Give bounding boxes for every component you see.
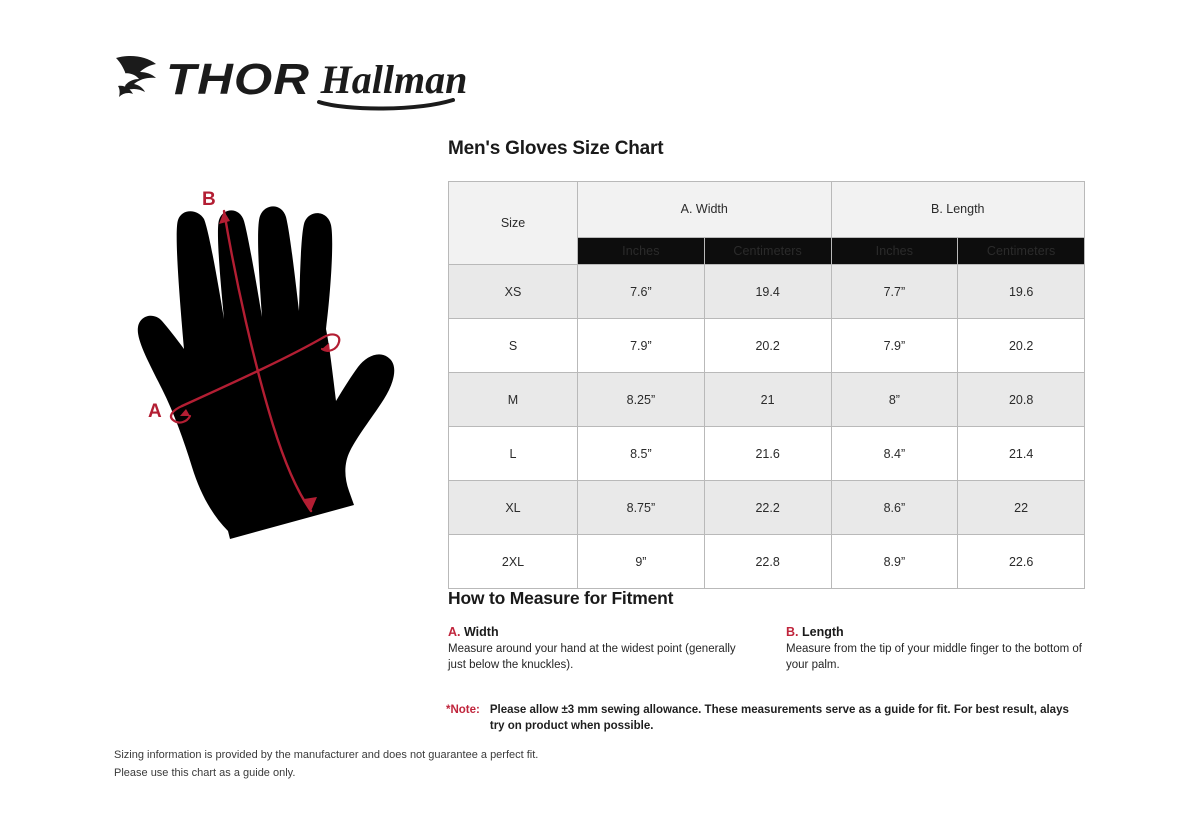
how-to-measure-section: How to Measure for Fitment A. Width Meas… [448,588,1088,674]
hand-measurement-diagram: B A [118,163,428,553]
cell-width-inches: 9” [578,535,705,589]
table-row: 2XL 9” 22.8 8.9” 22.6 [449,535,1085,589]
measure-item-width-key: A. [448,625,461,639]
cell-length-inches: 7.9” [831,319,958,373]
thor-wordmark: THOR [166,58,310,102]
cell-width-centimeters: 20.2 [704,319,831,373]
measure-item-length-description: Measure from the tip of your middle fing… [786,642,1086,674]
measure-item-length-key: B. [786,625,799,639]
page-title: Men's Gloves Size Chart [448,138,1088,160]
size-chart-table: Size A. Width B. Length Inches Centimete… [448,181,1085,589]
table-body: XS 7.6” 19.4 7.7” 19.6 S 7.9” 20.2 7.9” … [449,265,1085,589]
hallman-wordmark: Hallman [321,57,468,104]
cell-width-inches: 7.6” [578,265,705,319]
cell-width-centimeters: 21.6 [704,427,831,481]
brand-logo-bar: THOR Hallman [112,50,467,110]
label-b: B [202,189,216,210]
cell-length-centimeters: 19.6 [958,265,1085,319]
footer-disclaimer-line2: Please use this chart as a guide only. [114,765,538,783]
column-header-length-centimeters: Centimeters [958,237,1085,264]
cell-length-centimeters: 20.8 [958,373,1085,427]
cell-width-inches: 8.75” [578,481,705,535]
column-group-width: A. Width [578,182,832,238]
measure-item-width: A. Width Measure around your hand at the… [448,625,748,674]
column-header-length-inches: Inches [831,237,958,264]
cell-length-inches: 7.7” [831,265,958,319]
footer-disclaimer-line1: Sizing information is provided by the ma… [114,747,538,765]
table-row: XS 7.6” 19.4 7.7” 19.6 [449,265,1085,319]
cell-length-inches: 8.4” [831,427,958,481]
measure-item-width-heading: A. Width [448,625,748,639]
hand-silhouette-icon [138,206,394,539]
cell-size: XS [449,265,578,319]
cell-size: XL [449,481,578,535]
cell-length-centimeters: 21.4 [958,427,1085,481]
cell-width-inches: 8.5” [578,427,705,481]
table-row: S 7.9” 20.2 7.9” 20.2 [449,319,1085,373]
cell-size: 2XL [449,535,578,589]
table-group-header-row: Size A. Width B. Length [449,182,1085,238]
cell-width-centimeters: 19.4 [704,265,831,319]
thor-helmet-icon [112,52,164,108]
cell-size: L [449,427,578,481]
size-chart-panel: Men's Gloves Size Chart Size A. Width B.… [448,138,1088,589]
cell-width-inches: 7.9” [578,319,705,373]
cell-size: S [449,319,578,373]
column-header-size: Size [449,182,578,265]
label-a: A [148,401,162,422]
note-label: *Note: [446,702,480,735]
measure-item-width-name: Width [464,625,499,639]
cell-length-inches: 8.9” [831,535,958,589]
cell-length-inches: 8” [831,373,958,427]
note-block: *Note: Please allow ±3 mm sewing allowan… [446,702,1086,735]
cell-width-centimeters: 22.2 [704,481,831,535]
cell-length-centimeters: 22 [958,481,1085,535]
measure-item-length-name: Length [802,625,844,639]
hallman-swash-icon [317,98,457,112]
column-header-width-centimeters: Centimeters [704,237,831,264]
cell-length-centimeters: 20.2 [958,319,1085,373]
cell-width-centimeters: 21 [704,373,831,427]
table-row: L 8.5” 21.6 8.4” 21.4 [449,427,1085,481]
column-group-length: B. Length [831,182,1085,238]
cell-length-inches: 8.6” [831,481,958,535]
cell-width-inches: 8.25” [578,373,705,427]
hallman-logo: Hallman [321,60,468,100]
measure-item-length-heading: B. Length [786,625,1086,639]
table-row: M 8.25” 21 8” 20.8 [449,373,1085,427]
cell-length-centimeters: 22.6 [958,535,1085,589]
footer-disclaimer: Sizing information is provided by the ma… [114,747,538,782]
table-row: XL 8.75” 22.2 8.6” 22 [449,481,1085,535]
measure-item-width-description: Measure around your hand at the widest p… [448,642,748,674]
how-to-measure-title: How to Measure for Fitment [448,588,1088,609]
table-head: Size A. Width B. Length Inches Centimete… [449,182,1085,265]
measure-item-length: B. Length Measure from the tip of your m… [786,625,1086,674]
column-header-width-inches: Inches [578,237,705,264]
cell-width-centimeters: 22.8 [704,535,831,589]
thor-logo: THOR [112,52,295,108]
cell-size: M [449,373,578,427]
note-text: Please allow ±3 mm sewing allowance. The… [490,702,1086,735]
